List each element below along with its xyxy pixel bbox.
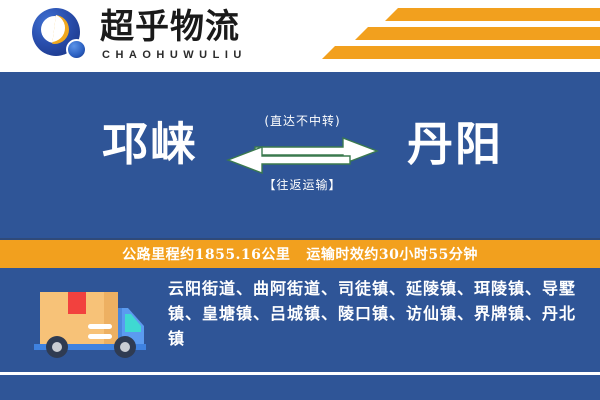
route-section: 邛崃 (直达不中转) 【往返运输】 丹阳 <box>0 72 600 238</box>
brand-logo-block: 超乎物流 CHAOHUWULIU <box>30 6 247 64</box>
circle-crescent-logo-icon <box>30 6 92 64</box>
logo-small-dot <box>66 39 87 60</box>
coverage-areas-section: 云阳街道、曲阿街道、司徒镇、延陵镇、珥陵镇、导墅镇、皇塘镇、吕城镇、陵口镇、访仙… <box>0 268 600 372</box>
header-bar: 超乎物流 CHAOHUWULIU <box>0 0 600 72</box>
bidirectional-arrow-icon <box>225 134 380 174</box>
decorative-stripes <box>300 8 600 66</box>
brand-text-block: 超乎物流 CHAOHUWULIU <box>100 8 247 62</box>
logistics-route-card: 超乎物流 CHAOHUWULIU 邛崃 (直达不中转) 【往返运输】 <box>0 0 600 400</box>
roundtrip-note: 【往返运输】 <box>225 176 380 194</box>
stripe-3 <box>322 46 600 59</box>
delivery-truck-icon <box>28 282 152 360</box>
coverage-areas-list: 云阳街道、曲阿街道、司徒镇、延陵镇、珥陵镇、导墅镇、皇塘镇、吕城镇、陵口镇、访仙… <box>168 276 588 351</box>
distance-text: 公路里程约1855.16公里 <box>122 244 290 264</box>
direct-service-note: (直达不中转) <box>225 112 380 130</box>
route-middle-block: (直达不中转) 【往返运输】 <box>225 112 380 194</box>
stripe-1 <box>385 8 600 21</box>
footer-bar <box>0 375 600 400</box>
brand-name-en: CHAOHUWULIU <box>102 48 247 62</box>
origin-city: 邛崃 <box>60 116 240 172</box>
duration-text: 运输时效约30小时55分钟 <box>306 244 477 264</box>
stripe-2 <box>355 27 600 40</box>
destination-city: 丹阳 <box>365 116 545 172</box>
brand-name-cn: 超乎物流 <box>100 8 247 46</box>
trip-info-bar: 公路里程约1855.16公里 运输时效约30小时55分钟 <box>0 238 600 268</box>
